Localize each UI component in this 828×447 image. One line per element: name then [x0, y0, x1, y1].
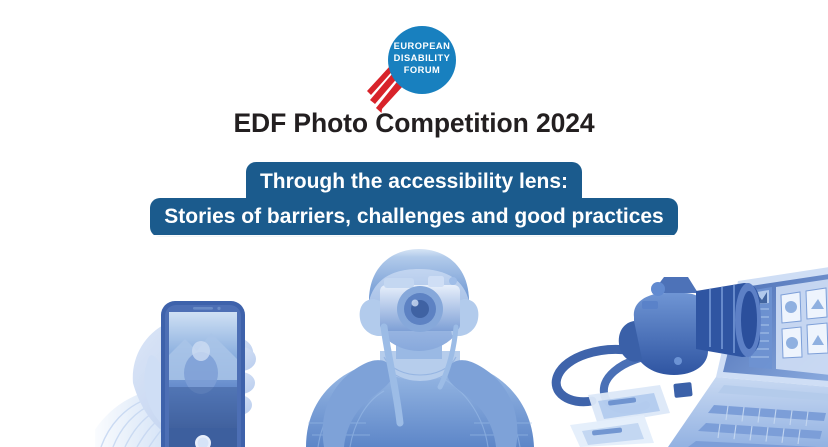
memory-card	[673, 382, 692, 398]
page-title: EDF Photo Competition 2024	[0, 108, 828, 139]
camera-button	[674, 357, 682, 365]
camera-mode-dial	[651, 282, 665, 296]
camera-and-laptop-graphic	[548, 265, 828, 447]
subtitle-banner: Through the accessibility lens: Stories …	[0, 162, 828, 237]
logo-text-line3: FORUM	[404, 65, 441, 75]
person-with-camera-graphic	[288, 247, 550, 447]
dslr-camera-and-laptop	[548, 265, 828, 447]
subtitle-line-1: Through the accessibility lens:	[246, 162, 582, 199]
person-taking-photo-with-camera	[288, 247, 550, 447]
camera-shutter-dial	[449, 277, 457, 285]
lens-highlight	[412, 300, 419, 307]
lens-glass	[741, 291, 757, 349]
photo-strip	[0, 235, 828, 447]
phone-speaker	[193, 307, 213, 310]
phone-front-camera	[217, 307, 220, 310]
logo-text-line2: DISABILITY	[394, 53, 451, 63]
edf-photo-competition-poster: EUROPEAN DISABILITY FORUM EDF Photo Comp…	[0, 0, 828, 447]
camera-top-display	[642, 301, 658, 309]
logo-text-line1: EUROPEAN	[394, 41, 451, 51]
subtitle-line-2: Stories of barriers, challenges and good…	[150, 198, 678, 237]
camera-viewfinder-hump	[428, 276, 444, 287]
photo-prints	[570, 385, 670, 447]
camera-top-plate	[384, 278, 414, 288]
european-disability-forum-logo: EUROPEAN DISABILITY FORUM	[362, 22, 466, 114]
logo-graphic: EUROPEAN DISABILITY FORUM	[362, 22, 466, 114]
